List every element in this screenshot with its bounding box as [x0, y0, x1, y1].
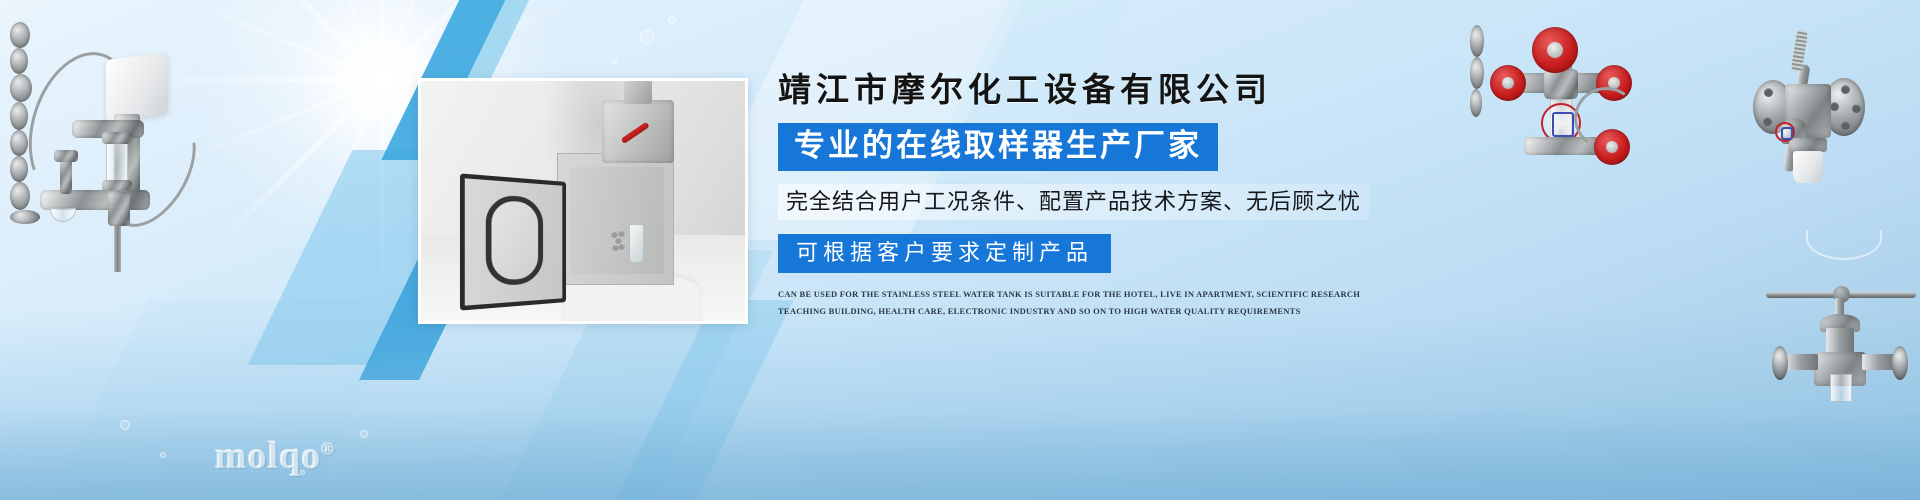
tagline-badge: 可根据客户要求定制产品 [778, 234, 1111, 273]
english-caption: CAN BE USED FOR THE STAINLESS STEEL WATE… [778, 286, 1378, 319]
bubble-icon [668, 16, 676, 24]
bottom-right-valve-illustration [1760, 228, 1920, 403]
bubble-icon [360, 430, 368, 438]
right-lever-valve-illustration [1715, 18, 1905, 193]
brand-watermark: molqo® [215, 434, 335, 478]
bubble-icon [120, 420, 130, 430]
sub-headline: 完全结合用户工况条件、配置产品技术方案、无后顾之忧 [778, 184, 1369, 220]
banner-copy: 靖江市摩尔化工设备有限公司 专业的在线取样器生产厂家 完全结合用户工况条件、配置… [778, 72, 1398, 319]
bubble-icon [640, 30, 654, 44]
diagonal-stripe [606, 300, 793, 500]
certification-emblem-icon [1775, 122, 1795, 142]
promotional-banner: 靖江市摩尔化工设备有限公司 专业的在线取样器生产厂家 完全结合用户工况条件、配置… [0, 0, 1920, 500]
registered-mark-icon: ® [321, 439, 335, 458]
left-equipment-illustration [10, 22, 200, 272]
tagline-row: 可根据客户要求定制产品 [778, 234, 1398, 273]
product-photo [418, 78, 748, 324]
bubble-icon [160, 452, 166, 458]
right-cross-valve-illustration [1470, 25, 1660, 155]
headline-row: 专业的在线取样器生产厂家 [778, 123, 1398, 172]
bubble-icon [612, 58, 618, 64]
watermark-text: molqo [215, 435, 321, 477]
company-name: 靖江市摩尔化工设备有限公司 [778, 72, 1398, 111]
headline-badge: 专业的在线取样器生产厂家 [778, 123, 1218, 172]
